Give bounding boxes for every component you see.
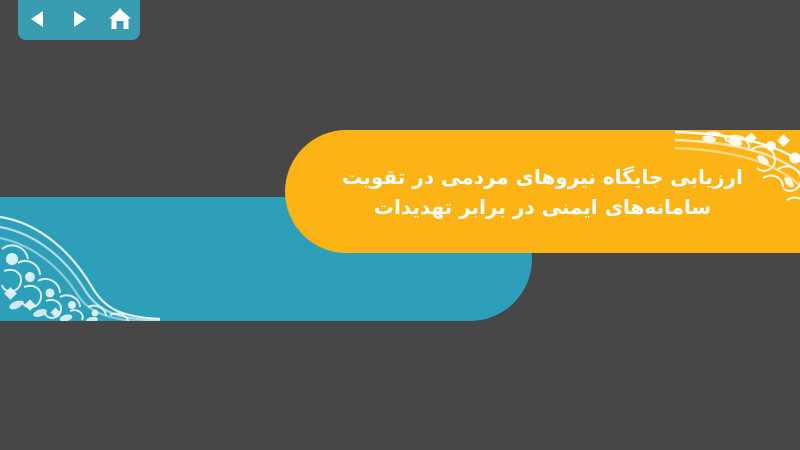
arabesque-ornament-icon [0,197,160,321]
orange-title-band [285,130,800,253]
forward-button[interactable] [64,6,94,32]
arabesque-ornament-icon [675,130,800,240]
presentation-slide: ارزیابی جایگاه نیروهای مردمی در تقویت سا… [0,0,800,450]
navigation-bar [18,0,140,40]
back-button[interactable] [23,6,53,32]
home-button[interactable] [105,6,135,32]
